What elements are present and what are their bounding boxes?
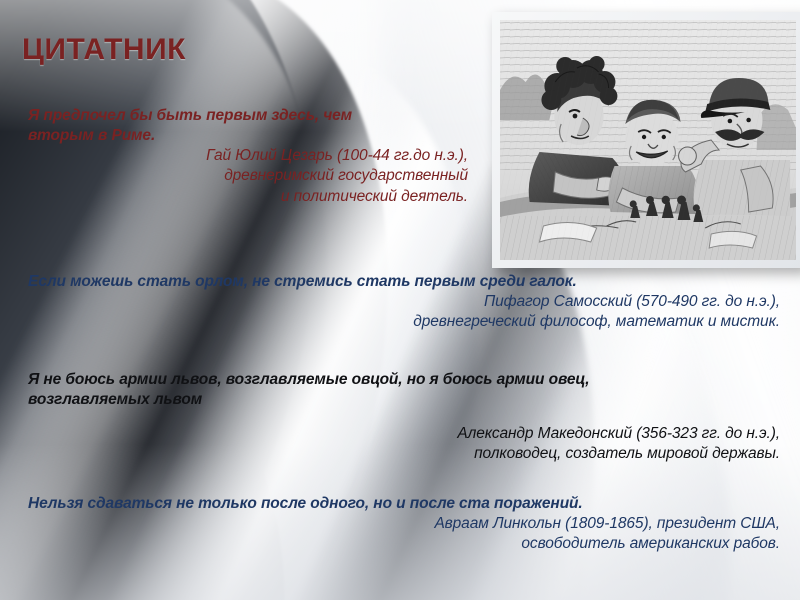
quote-block-caesar: Я предпочел бы быть первым здесь, чем вт… [28,106,468,207]
page-title: ЦИТАТНИК [22,33,186,67]
three-men-caricature-engraving-image [500,20,796,260]
quote-block-alexander: Я не боюсь армии львов, возглавляемые ов… [28,370,780,465]
quote-text-pythagoras: Если можешь стать орлом, не стремись ста… [28,272,780,292]
attribution-line: и политический деятель. [28,187,468,207]
quote-line: Я не боюсь армии львов, возглавляемые ов… [28,370,780,390]
quote-attribution-pythagoras: Пифагор Самосский (570-490 гг. до н.э.),… [28,292,780,333]
quote-attribution-lincoln: Авраам Линкольн (1809-1865), президент С… [28,514,780,555]
quote-block-lincoln: Нельзя сдаваться не только после одного,… [28,494,780,555]
quote-text-lincoln: Нельзя сдаваться не только после одного,… [28,494,780,514]
attribution-line: Пифагор Самосский (570-490 гг. до н.э.), [28,292,780,312]
quote-text-alexander: Я не боюсь армии львов, возглавляемые ов… [28,370,780,410]
attribution-line: Александр Македонский (356-323 гг. до н.… [28,424,780,444]
attribution-line: Авраам Линкольн (1809-1865), президент С… [28,514,780,534]
quote-attribution-alexander: Александр Македонский (356-323 гг. до н.… [28,424,780,465]
quote-line: вторым в Риме. [28,126,468,146]
slide-canvas: ЦИТАТНИК [0,0,800,600]
quote-block-pythagoras: Если можешь стать орлом, не стремись ста… [28,272,780,333]
attribution-line: освободитель американских рабов. [28,534,780,554]
attribution-line: полководец, создатель мировой державы. [28,444,780,464]
picture-frame [492,12,800,268]
quote-line: Я предпочел бы быть первым здесь, чем [28,106,468,126]
attribution-line: древнеримский государственный [28,166,468,186]
quote-attribution-caesar: Гай Юлий Цезарь (100-44 гг.до н.э.), дре… [28,146,468,207]
quote-line: Нельзя сдаваться не только после одного,… [28,494,780,514]
quote-line: возглавляемых львом [28,390,780,410]
attribution-line: Гай Юлий Цезарь (100-44 гг.до н.э.), [28,146,468,166]
quote-line: Если можешь стать орлом, не стремись ста… [28,272,780,292]
quote-text-caesar: Я предпочел бы быть первым здесь, чем вт… [28,106,468,146]
attribution-line: древнегреческий философ, математик и мис… [28,312,780,332]
